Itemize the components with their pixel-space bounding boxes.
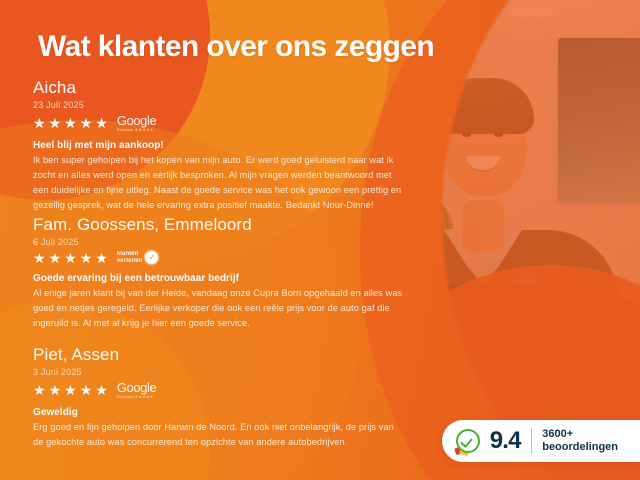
star-icon: ★ <box>49 251 62 265</box>
review-headline: Geweldig <box>33 407 405 418</box>
review-body: Erg goed en fijn geholpen door Harwin de… <box>33 420 405 450</box>
google-reviews-stars: ★★★★★ <box>135 394 154 399</box>
banner-content: Wat klanten over ons zeggen Aicha 23 Jul… <box>0 0 640 480</box>
star-icon: ★ <box>95 383 108 397</box>
review-card: Piet, Assen 3 Juni 2025 ★ ★ ★ ★ ★ Google… <box>33 345 405 450</box>
star-icon: ★ <box>80 383 93 397</box>
klantenvertellen-badge[interactable]: klanten vertellen ✓ <box>117 251 159 264</box>
google-reviews-badge[interactable]: Google Reviews ★★★★★ <box>117 114 157 132</box>
star-icon: ★ <box>64 383 77 397</box>
star-icon: ★ <box>80 116 93 130</box>
star-icon: ★ <box>33 383 46 397</box>
review-meta: ★ ★ ★ ★ ★ klanten vertellen ✓ <box>33 251 405 265</box>
reviewer-name: Aicha <box>33 78 405 98</box>
review-headline: Goede ervaring bij een betrouwbaar bedri… <box>33 273 405 284</box>
check-icon: ✓ <box>149 254 156 262</box>
google-reviews-word: Reviews <box>117 394 134 399</box>
google-logo-text: Google <box>117 381 157 394</box>
page-title: Wat klanten over ons zeggen <box>38 30 434 64</box>
divider <box>531 428 533 454</box>
klantenvertellen-line2: vertellen <box>117 258 143 264</box>
verified-check-icon <box>456 429 480 453</box>
google-reviews-badge[interactable]: Google Reviews ★★★★★ <box>117 381 157 399</box>
score-value: 9.4 <box>490 429 521 453</box>
google-reviews-subtext: Reviews ★★★★★ <box>117 128 154 132</box>
google-logo-text: Google <box>117 114 157 127</box>
google-reviews-subtext: Reviews ★★★★★ <box>117 395 154 399</box>
score-badge[interactable]: 9.4 3600+ beoordelingen <box>442 420 640 462</box>
star-rating: ★ ★ ★ ★ ★ <box>33 251 108 265</box>
review-body: Ik ben super geholpen bij het kopen van … <box>33 153 405 213</box>
klantenvertellen-text: klanten vertellen <box>117 251 143 264</box>
review-headline: Heel blij met mijn aankoop! <box>33 140 405 151</box>
review-meta: ★ ★ ★ ★ ★ Google Reviews ★★★★★ <box>33 114 405 132</box>
review-date: 6 Juli 2025 <box>33 237 405 247</box>
star-rating: ★ ★ ★ ★ ★ <box>33 383 108 397</box>
check-mark <box>462 433 473 447</box>
star-icon: ★ <box>95 116 108 130</box>
review-date: 3 Juni 2025 <box>33 367 405 377</box>
star-icon: ★ <box>64 116 77 130</box>
star-icon: ★ <box>95 251 108 265</box>
reviewer-name: Piet, Assen <box>33 345 405 365</box>
review-date: 23 Juli 2025 <box>33 100 405 110</box>
reviewer-name: Fam. Goossens, Emmeloord <box>33 215 405 235</box>
star-icon: ★ <box>64 251 77 265</box>
star-rating: ★ ★ ★ ★ ★ <box>33 116 108 130</box>
review-card: Aicha 23 Juli 2025 ★ ★ ★ ★ ★ Google Revi… <box>33 78 405 213</box>
star-icon: ★ <box>33 251 46 265</box>
review-body: Al enige jaren klant bij van der Heide, … <box>33 286 405 331</box>
star-icon: ★ <box>49 116 62 130</box>
check-circle-icon: ✓ <box>145 251 158 264</box>
review-card: Fam. Goossens, Emmeloord 6 Juli 2025 ★ ★… <box>33 215 405 331</box>
review-count-label: beoordelingen <box>542 441 618 454</box>
google-reviews-word: Reviews <box>117 127 134 132</box>
score-count-block: 3600+ beoordelingen <box>542 428 618 454</box>
reviews-banner: VDH VDH Wat klanten over ons zeggen Aich… <box>0 0 640 480</box>
star-icon: ★ <box>49 383 62 397</box>
review-meta: ★ ★ ★ ★ ★ Google Reviews ★★★★★ <box>33 381 405 399</box>
review-count: 3600+ <box>542 428 618 441</box>
star-icon: ★ <box>80 251 93 265</box>
star-icon: ★ <box>33 116 46 130</box>
google-reviews-stars: ★★★★★ <box>135 127 154 132</box>
